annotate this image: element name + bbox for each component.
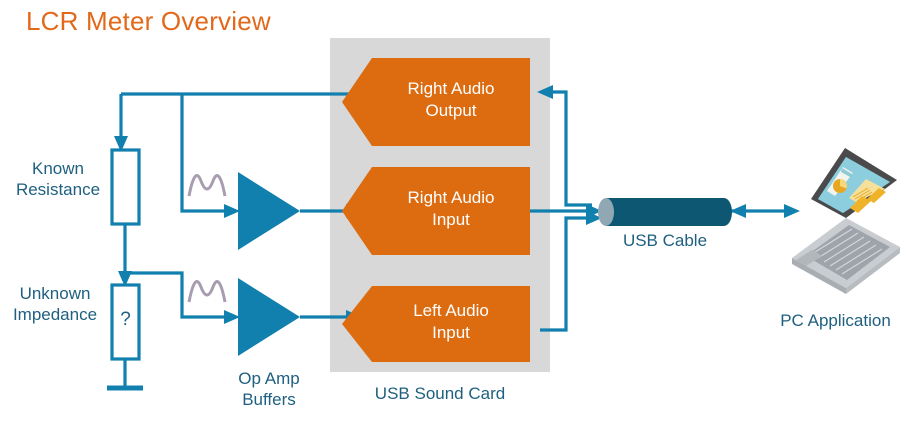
wire-node-to-opamp2 [130, 273, 230, 317]
laptop-icon [792, 148, 900, 294]
op-amp-triangle-icon-1 [238, 172, 300, 250]
block-label-right-audio-output: Right Audio Output [372, 78, 530, 122]
block-label-right-audio-input: Right Audio Input [372, 187, 530, 231]
lcr-meter-overview-diagram: LCR Meter Overview [0, 0, 910, 428]
op-amp-triangle-icon-2 [238, 278, 300, 356]
wire-usb-to-right-output [547, 92, 592, 205]
sine-wave-icon-2 [189, 282, 225, 302]
arrow-into-pc [784, 204, 800, 218]
block-label-left-audio-input: Left Audio Input [372, 300, 530, 344]
resistor-unknown-impedance [112, 285, 139, 359]
arrow-into-opamp2 [224, 310, 240, 324]
usb-cable-icon [598, 198, 732, 226]
resistor-known-resistance [112, 150, 139, 224]
sine-wave-icon-1 [189, 176, 225, 196]
arrow-from-pc-to-usb [730, 204, 746, 218]
arrow-into-opamp1 [224, 204, 240, 218]
